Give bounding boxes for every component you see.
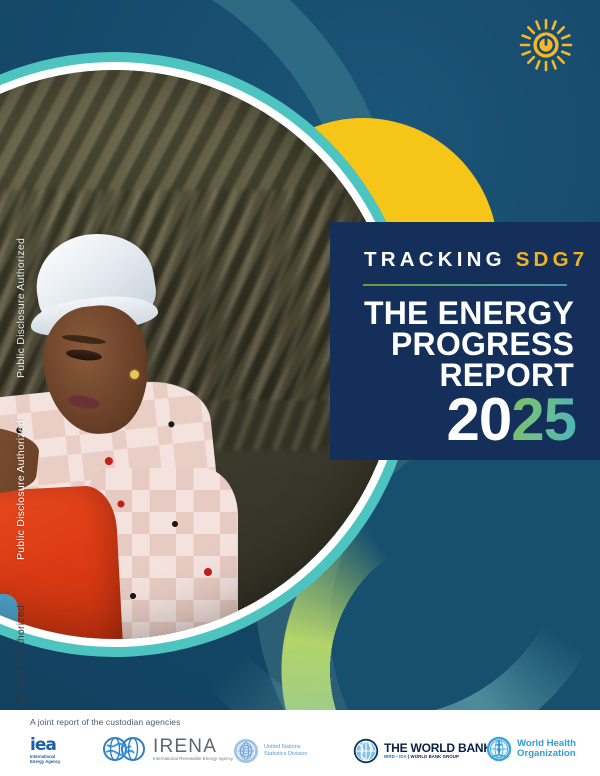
- who-emblem-icon: [486, 736, 512, 762]
- logo-irena: IRENA International Renewable Energy Age…: [102, 736, 233, 762]
- headline-line-1: THE ENERGY: [330, 298, 574, 329]
- logo-world-bank: THE WORLD BANK IBRD • IDA | WORLD BANK G…: [353, 738, 492, 764]
- year-second-half: 25: [511, 386, 576, 453]
- headline-line-2: PROGRESS: [330, 329, 574, 360]
- watermark-strip: Public Disclosure Authorized Public Disc…: [0, 0, 24, 710]
- un-line-1: United Nations: [264, 744, 308, 751]
- iea-subtitle: International Energy Agency: [30, 754, 60, 764]
- watermark-text-2: Public Disclosure Authorized: [15, 360, 24, 560]
- who-text: World Health Organization: [517, 739, 576, 760]
- sdg7-sun-power-icon: [519, 18, 573, 72]
- eyebrow-sdg7: SDG7: [516, 248, 589, 271]
- who-line-2: Organization: [517, 749, 576, 760]
- iea-wordmark: iea: [30, 738, 56, 753]
- logo-who: World Health Organization: [486, 736, 576, 762]
- logo-un-statistics: United Nations Statistics Division: [233, 738, 308, 764]
- watermark-text-3: Public Disclosure Authorized: [15, 545, 24, 710]
- year-first-half: 20: [447, 386, 512, 453]
- page-title: THE ENERGY PROGRESS REPORT: [330, 298, 574, 391]
- footer: A joint report of the custodian agencies…: [0, 710, 600, 776]
- title-divider-rule: [363, 284, 567, 286]
- irena-subtitle: International Renewable Energy Agency: [153, 756, 233, 761]
- footer-note: A joint report of the custodian agencies: [30, 717, 180, 727]
- title-block: TRACKING SDG7 THE ENERGY PROGRESS REPORT…: [330, 222, 600, 460]
- un-line-2: Statistics Division: [264, 751, 308, 758]
- report-year: 2025: [447, 390, 577, 450]
- eyebrow-prefix: TRACKING: [364, 248, 516, 271]
- eyebrow-tracking-sdg7: TRACKING SDG7: [364, 248, 588, 272]
- photo-earring: [130, 370, 139, 379]
- world-bank-wordmark: THE WORLD BANK: [384, 742, 492, 754]
- world-bank-globe-icon: [353, 738, 379, 764]
- un-text: United Nations Statistics Division: [264, 744, 308, 758]
- irena-wordmark: IRENA: [153, 737, 233, 756]
- world-bank-sub-right: WORLD BANK GROUP: [411, 754, 459, 759]
- report-cover: Cook Public Disclosure Authorized Public…: [0, 0, 600, 776]
- custodian-agency-logos: iea International Energy Agency IRENA: [28, 732, 584, 772]
- watermark-text-1: Public Disclosure Authorized: [15, 178, 24, 378]
- un-emblem-icon: [233, 738, 259, 764]
- irena-globes-icon: [102, 736, 148, 762]
- logo-iea: iea International Energy Agency: [30, 738, 60, 764]
- irena-text: IRENA International Renewable Energy Age…: [153, 737, 233, 761]
- world-bank-sub-left: IBRD • IDA: [384, 754, 407, 759]
- world-bank-text: THE WORLD BANK IBRD • IDA | WORLD BANK G…: [384, 742, 492, 760]
